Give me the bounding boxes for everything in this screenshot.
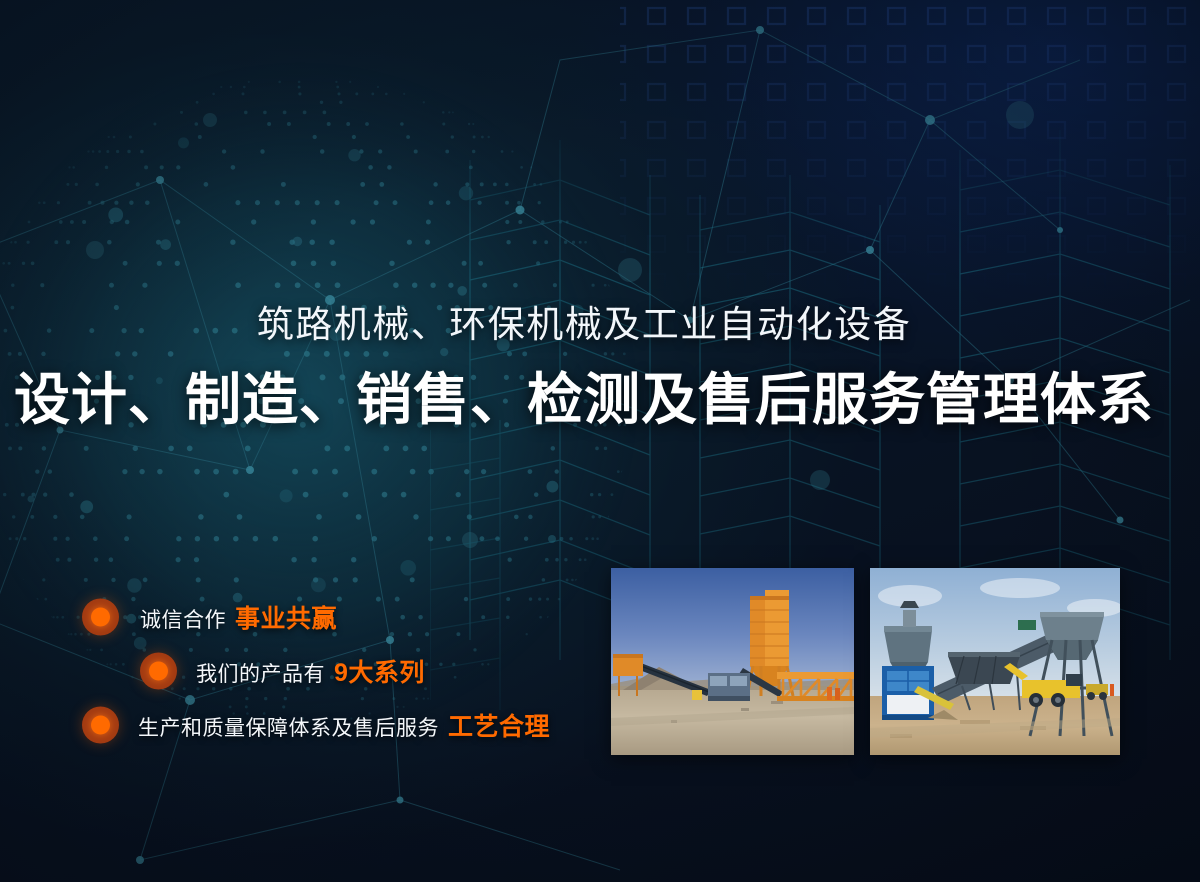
bullet-label: 生产和质量保障体系及售后服务 — [138, 717, 439, 740]
bullet-dot-icon — [82, 599, 119, 636]
list-item: 我们的产品有9大系列 — [0, 649, 560, 693]
list-item: 诚信合作事业共赢 — [0, 595, 560, 639]
bullet-dot-icon — [140, 653, 177, 690]
bullet-highlight: 工艺合理 — [448, 713, 550, 741]
bullet-label: 我们的产品有 — [196, 663, 325, 686]
bullet-highlight: 9大系列 — [334, 659, 425, 687]
banner-subtitle: 筑路机械、环保机械及工业自动化设备 — [0, 303, 1168, 347]
bullet-label: 诚信合作 — [140, 609, 226, 632]
promo-banner: 筑路机械、环保机械及工业自动化设备 设计、制造、销售、检测及售后服务管理体系 诚… — [0, 0, 1200, 882]
mobile-batching-plant-photo — [870, 568, 1120, 755]
list-item: 生产和质量保障体系及售后服务工艺合理 — [0, 703, 560, 747]
feature-bullet-list: 诚信合作事业共赢 我们的产品有9大系列 生产和质量保障体系及售后服务工艺合理 — [0, 595, 560, 757]
bullet-dot-icon — [82, 707, 119, 744]
concrete-batching-plant-photo — [611, 568, 854, 755]
banner-headline: 设计、制造、销售、检测及售后服务管理体系 — [0, 368, 1168, 432]
bullet-highlight: 事业共赢 — [235, 605, 337, 633]
